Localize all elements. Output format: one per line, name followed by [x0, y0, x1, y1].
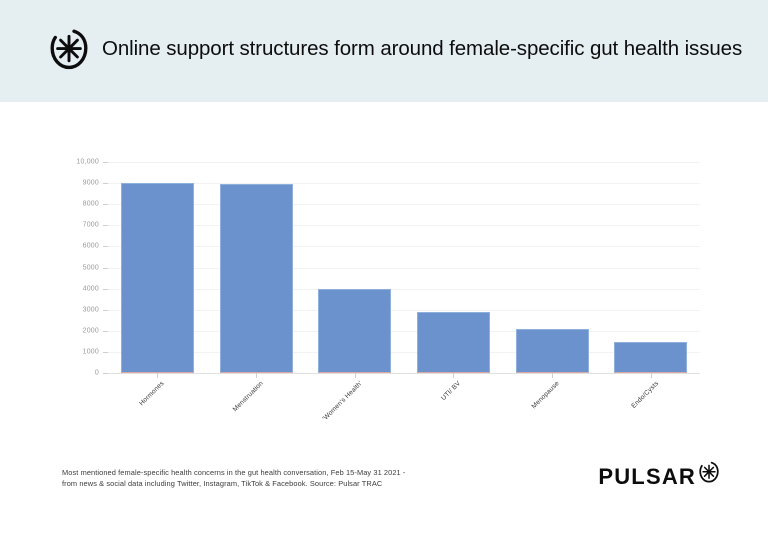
- y-axis-label: 0: [95, 370, 99, 377]
- y-axis-label: 2000: [83, 327, 99, 334]
- x-axis-label: Endo/Cysts: [630, 380, 660, 410]
- gridline: [108, 268, 700, 269]
- gridline: [108, 246, 700, 247]
- bar[interactable]: [417, 312, 490, 373]
- gridline: [108, 331, 700, 332]
- header-content: Online support structures form around fe…: [48, 28, 742, 70]
- bar[interactable]: [220, 184, 293, 373]
- y-axis-tick: [103, 331, 108, 332]
- header-band: Online support structures form around fe…: [0, 0, 768, 102]
- y-axis-label: 6000: [83, 243, 99, 250]
- y-axis-label: 3000: [83, 306, 99, 313]
- gridline: [108, 289, 700, 290]
- chart-container: 010002000300040005000600070008000900010,…: [0, 102, 768, 442]
- footer: Most mentioned female-specific health co…: [0, 452, 768, 537]
- y-axis-tick: [103, 352, 108, 353]
- y-axis-label: 8000: [83, 201, 99, 208]
- y-axis-label: 1000: [83, 348, 99, 355]
- page-title: Online support structures form around fe…: [102, 39, 742, 60]
- gridline: [108, 183, 700, 184]
- x-axis-label: 'Women's Health': [321, 380, 363, 422]
- x-axis-tick: [453, 373, 454, 378]
- y-axis-tick: [103, 246, 108, 247]
- y-axis-tick: [103, 183, 108, 184]
- bar[interactable]: [121, 183, 194, 373]
- bar[interactable]: [318, 289, 391, 373]
- gridline: [108, 310, 700, 311]
- y-axis-label: 7000: [83, 222, 99, 229]
- pulsar-starburst-icon: [48, 28, 90, 70]
- source-note-line-2: from news & social data including Twitte…: [62, 478, 482, 489]
- x-axis-label: UTI/ BV: [440, 380, 462, 402]
- x-axis-tick: [651, 373, 652, 378]
- source-note-line-1: Most mentioned female-specific health co…: [62, 467, 482, 478]
- x-axis-tick: [355, 373, 356, 378]
- y-axis-label: 5000: [83, 264, 99, 271]
- gridline: [108, 373, 700, 374]
- x-axis-label: Hormones: [139, 380, 166, 407]
- y-axis-label: 10,000: [76, 159, 99, 166]
- pulsar-logo: PULSAR: [598, 464, 720, 490]
- x-axis-label: Menopause: [530, 380, 560, 410]
- x-axis-tick: [157, 373, 158, 378]
- bar[interactable]: [614, 342, 687, 373]
- gridline: [108, 225, 700, 226]
- y-axis-tick: [103, 225, 108, 226]
- y-axis-tick: [103, 289, 108, 290]
- bar[interactable]: [516, 329, 589, 373]
- gridline: [108, 352, 700, 353]
- pulsar-wordmark: PULSAR: [598, 464, 696, 490]
- pulsar-starburst-icon: [698, 461, 720, 483]
- gridline: [108, 204, 700, 205]
- y-axis-label: 4000: [83, 285, 99, 292]
- y-axis-tick: [103, 162, 108, 163]
- x-axis-label: Menstruation: [232, 380, 265, 413]
- y-axis-tick: [103, 310, 108, 311]
- x-axis-tick: [552, 373, 553, 378]
- y-axis-tick: [103, 373, 108, 374]
- x-axis-tick: [256, 373, 257, 378]
- y-axis-tick: [103, 268, 108, 269]
- y-axis-label: 9000: [83, 180, 99, 187]
- y-axis-tick: [103, 204, 108, 205]
- source-note: Most mentioned female-specific health co…: [62, 467, 482, 490]
- bar-chart-plot-area: 010002000300040005000600070008000900010,…: [108, 162, 700, 373]
- gridline: [108, 162, 700, 163]
